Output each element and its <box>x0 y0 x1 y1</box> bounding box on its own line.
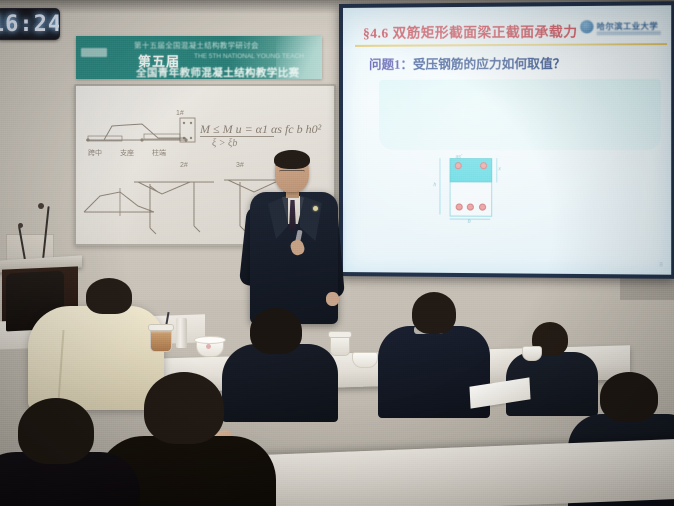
banner-line-3: 全国青年教师混凝土结构教学比赛 <box>136 65 300 79</box>
whiteboard-label-2hash: 2# <box>180 162 188 169</box>
whiteboard-formula-2: ξ > ξb <box>212 138 237 149</box>
projection-screen-surface: §4.6 双筋矩形截面梁正截面承载力 哈尔滨工业大学 问题1：受压钢筋的应力如何… <box>343 5 671 274</box>
slide-page-number: 8 <box>659 262 662 268</box>
presenter-right-hand <box>326 292 339 306</box>
whiteboard-label-1: 跨中 <box>88 148 102 158</box>
banner-line-1: 第十五届全国混凝土结构教学研讨会 <box>134 40 310 49</box>
banner-line-2-small: THE 5TH NATIONAL YOUNG TEACHERS COMPETIT… <box>194 53 304 62</box>
slide-question-key: 问题1： <box>369 58 413 72</box>
rebar-top-1 <box>455 162 462 169</box>
whiteboard-label-3hash: 3# <box>236 162 244 169</box>
beam-cross-section-diagram: h x b as' <box>431 154 510 223</box>
dim-label-as-prime: as' <box>456 154 462 160</box>
whiteboard-label-3: 柱端 <box>152 148 166 158</box>
rebar-bottom-2 <box>467 204 474 211</box>
event-banner: 第十五届全国混凝土结构教学研讨会 第五届 THE 5TH NATIONAL YO… <box>76 36 322 79</box>
whiteboard-label-1hash: 1# <box>176 110 184 117</box>
university-emblem-icon <box>580 20 593 33</box>
whiteboard-sketch-beam-2 <box>80 186 160 226</box>
audience-beige-jacket-head <box>86 278 132 314</box>
slide-question-line: 问题1：受压钢筋的应力如何取值？ <box>369 53 566 73</box>
water-bottle <box>176 318 187 348</box>
whiteboard-formula-underline <box>200 136 274 137</box>
whiteboard-sketch-section <box>176 114 200 146</box>
presenter-lapel-badge <box>313 206 318 211</box>
presenter-hair <box>274 150 310 169</box>
dim-label-b: b <box>468 219 471 225</box>
dim-label-h: h <box>433 182 436 188</box>
dim-line-height <box>439 158 440 214</box>
wall-digital-clock: 16:24 <box>0 8 60 40</box>
screenshot-root: 16:24 第十五届全国混凝土结构教学研讨会 第五届 THE 5TH NATIO… <box>0 0 674 506</box>
paper-cup-center-lid <box>328 331 352 338</box>
microphone-head-secondary <box>18 223 23 228</box>
audience-far-right-head <box>600 372 658 422</box>
whiteboard-formula: M ≤ M u = α1 αs fc b h0² <box>200 122 321 137</box>
lidded-tea-cup-lid <box>194 336 226 344</box>
banner-logo-icon <box>81 48 107 57</box>
rebar-bottom-1 <box>456 203 463 210</box>
audience-foreground-left-head <box>18 398 94 464</box>
dim-label-x: x <box>498 166 501 172</box>
slide-title: §4.6 双筋矩形截面梁正截面承载力 <box>363 20 578 42</box>
gooseneck-microphone-head <box>38 203 44 209</box>
audience-beige-jacket-body <box>28 306 164 410</box>
tea-cup-motif <box>206 344 211 349</box>
rebar-bottom-3 <box>479 204 486 211</box>
tea-cup-right <box>522 346 542 361</box>
audience-foreground-center-head <box>144 372 224 444</box>
glasses-icon <box>279 170 305 177</box>
slide-title-rule <box>355 43 667 47</box>
clock-time-text: 16:24 <box>0 12 60 37</box>
university-logo-subtitle <box>597 31 661 35</box>
audience-dark-suit-center-body <box>222 344 338 422</box>
audience-dark-suit-center-head <box>250 308 302 354</box>
iced-coffee-cup-lid <box>148 324 174 331</box>
tea-cup-center-right <box>352 352 378 368</box>
dim-line-x <box>496 158 497 182</box>
slide-question-text: 受压钢筋的应力如何取值？ <box>413 57 566 72</box>
audience-dark-suit-right-head <box>412 292 456 334</box>
rebar-top-2 <box>480 162 487 169</box>
slide-content-panel: h x b as' <box>379 79 661 150</box>
projection-screen-frame: §4.6 双筋矩形截面梁正截面承载力 哈尔滨工业大学 问题1：受压钢筋的应力如何… <box>339 1 674 279</box>
whiteboard-label-2: 支座 <box>120 148 134 158</box>
